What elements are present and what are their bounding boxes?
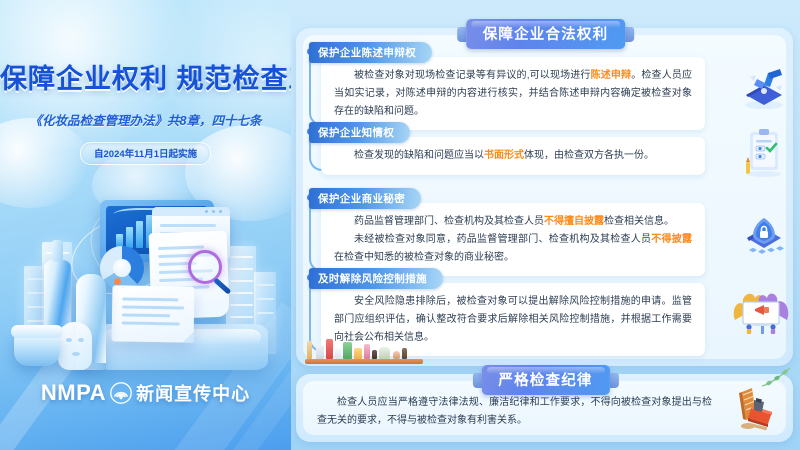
- rights-section-title: 保障企业合法权利: [466, 19, 626, 49]
- logo-subtitle: 新闻宣传中心: [136, 380, 250, 406]
- item-label: 保护企业知情权: [309, 122, 410, 143]
- item-paragraph: 被检查对象对现场检查记录等有异议的,可以现场进行陈述申辩。检查人员应当如实记录，…: [334, 67, 692, 120]
- magnifier-icon: [188, 250, 222, 284]
- item-label: 保护企业商业秘密: [309, 188, 421, 209]
- effective-date-badge: 自2024年11月1日起实施: [80, 142, 211, 165]
- item-label: 保护企业陈述申辩权: [309, 42, 432, 63]
- header-tab-left: [457, 27, 466, 42]
- item-body: 被检查对象对现场检查记录等有异议的,可以现场进行陈述申辩。检查人员应当如实记录，…: [321, 57, 705, 130]
- cosmetics-shelf-icon: [305, 336, 425, 364]
- header-tab-right: [625, 27, 634, 42]
- discipline-paragraph: 检查人员应当严格遵守法律法规、廉洁纪律和工作要求，不得向被检查对象提出与检查无关…: [317, 394, 712, 430]
- infographic-poster: 保障企业权利 规范检查工作 《化妆品检查管理办法》共8章，四十七条 自2024年…: [0, 0, 800, 450]
- item-body: 药品监督管理部门、检查机构及其检查人员不得擅自披露检查相关信息。 未经被检查对象…: [321, 203, 705, 276]
- clipboard-check-icon: [736, 124, 792, 180]
- header-tab-right: [610, 373, 619, 388]
- left-hero-panel: 保障企业权利 规范检查工作 《化妆品检查管理办法》共8章，四十七条 自2024年…: [0, 0, 291, 450]
- hero-title-group: 保障企业权利 规范检查工作 《化妆品检查管理办法》共8章，四十七条 自2024年…: [0, 64, 291, 165]
- cosmetics-inspection-illustration: [0, 188, 291, 388]
- right-content-panel: 保障企业合法权利 保护企业陈述申辩权 被检查对象对现场检查记录等有异议的,可以现…: [291, 0, 800, 450]
- item-paragraph: 未经被检查对象同意，药品监督管理部门、检查机构及其检查人员不得披露在检查中知悉的…: [334, 231, 692, 267]
- item-label: 及时解除风险控制措施: [309, 268, 443, 289]
- rights-item-trade-secret: 保护企业商业秘密 药品监督管理部门、检查机构及其检查人员不得擅自披露检查相关信息…: [309, 188, 767, 276]
- discipline-section-header: 严格检查纪律: [472, 365, 618, 395]
- balance-scale-icon: [736, 58, 792, 114]
- cosmetic-jar-icon: [14, 332, 60, 366]
- rights-item-information: 保护企业知情权 检查发现的缺陷和问题应当以书面形式体现，由检查双方各执一份。: [309, 122, 767, 175]
- law-books-gavel-icon: [730, 382, 786, 434]
- item-paragraph: 药品监督管理部门、检查机构及其检查人员不得擅自披露检查相关信息。: [334, 213, 692, 231]
- discipline-section-title: 严格检查纪律: [481, 365, 609, 395]
- wave-signal-icon: [110, 382, 132, 404]
- page-subtitle: 《化妆品检查管理办法》共8章，四十七条: [0, 110, 291, 129]
- rights-section-header: 保障企业合法权利: [457, 19, 635, 49]
- decorative-dot: [114, 278, 121, 285]
- nmpa-logo: NMPA 新闻宣传中心: [0, 380, 291, 406]
- item-paragraph: 检查发现的缺陷和问题应当以书面形式体现，由检查双方各执一份。: [334, 147, 692, 165]
- header-tab-left: [472, 373, 481, 388]
- front-document-icon: [112, 285, 195, 342]
- page-title: 保障企业权利 规范检查工作: [0, 64, 291, 96]
- megaphone-announcement-icon: [730, 282, 792, 338]
- discipline-body: 检查人员应当严格遵守法律法规、廉洁纪律和工作要求，不得向被检查对象提出与检查无关…: [317, 394, 712, 430]
- shield-lock-icon: [736, 206, 792, 262]
- facial-sheet-mask-icon: [58, 322, 92, 370]
- rights-item-statement: 保护企业陈述申辩权 被检查对象对现场检查记录等有异议的,可以现场进行陈述申辩。检…: [309, 42, 767, 130]
- logo-wordmark: NMPA: [41, 380, 106, 406]
